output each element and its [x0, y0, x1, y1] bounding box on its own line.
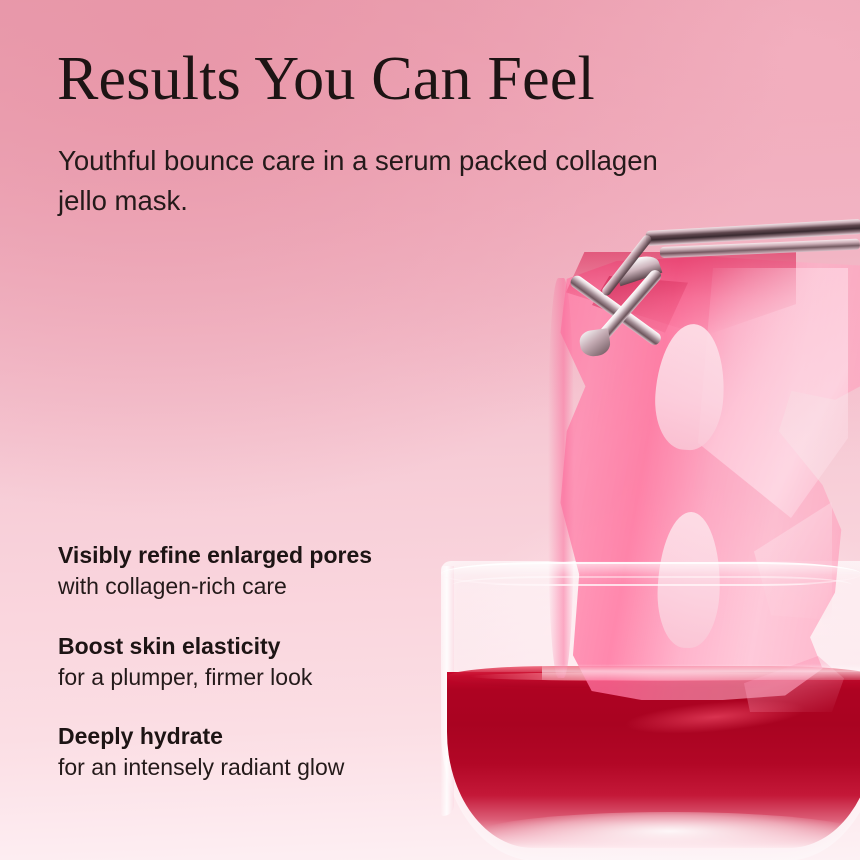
copy-block: Results You Can Feel Youthful bounce car…	[0, 0, 860, 860]
benefit-item: Deeply hydrate for an intensely radiant …	[58, 722, 488, 783]
subheadline: Youthful bounce care in a serum packed c…	[58, 141, 678, 221]
page-title: Results You Can Feel	[57, 47, 595, 111]
benefit-title: Boost skin elasticity	[58, 632, 488, 662]
benefit-subtitle: for an intensely radiant glow	[58, 752, 488, 783]
benefit-item: Boost skin elasticity for a plumper, fir…	[58, 632, 488, 693]
benefit-subtitle: for a plumper, firmer look	[58, 662, 488, 693]
benefit-item: Visibly refine enlarged pores with colla…	[58, 541, 488, 602]
benefits-list: Visibly refine enlarged pores with colla…	[58, 541, 488, 783]
product-benefits-card: Results You Can Feel Youthful bounce car…	[0, 0, 860, 860]
benefit-subtitle: with collagen-rich care	[58, 571, 488, 602]
benefit-title: Visibly refine enlarged pores	[58, 541, 488, 571]
benefit-title: Deeply hydrate	[58, 722, 488, 752]
